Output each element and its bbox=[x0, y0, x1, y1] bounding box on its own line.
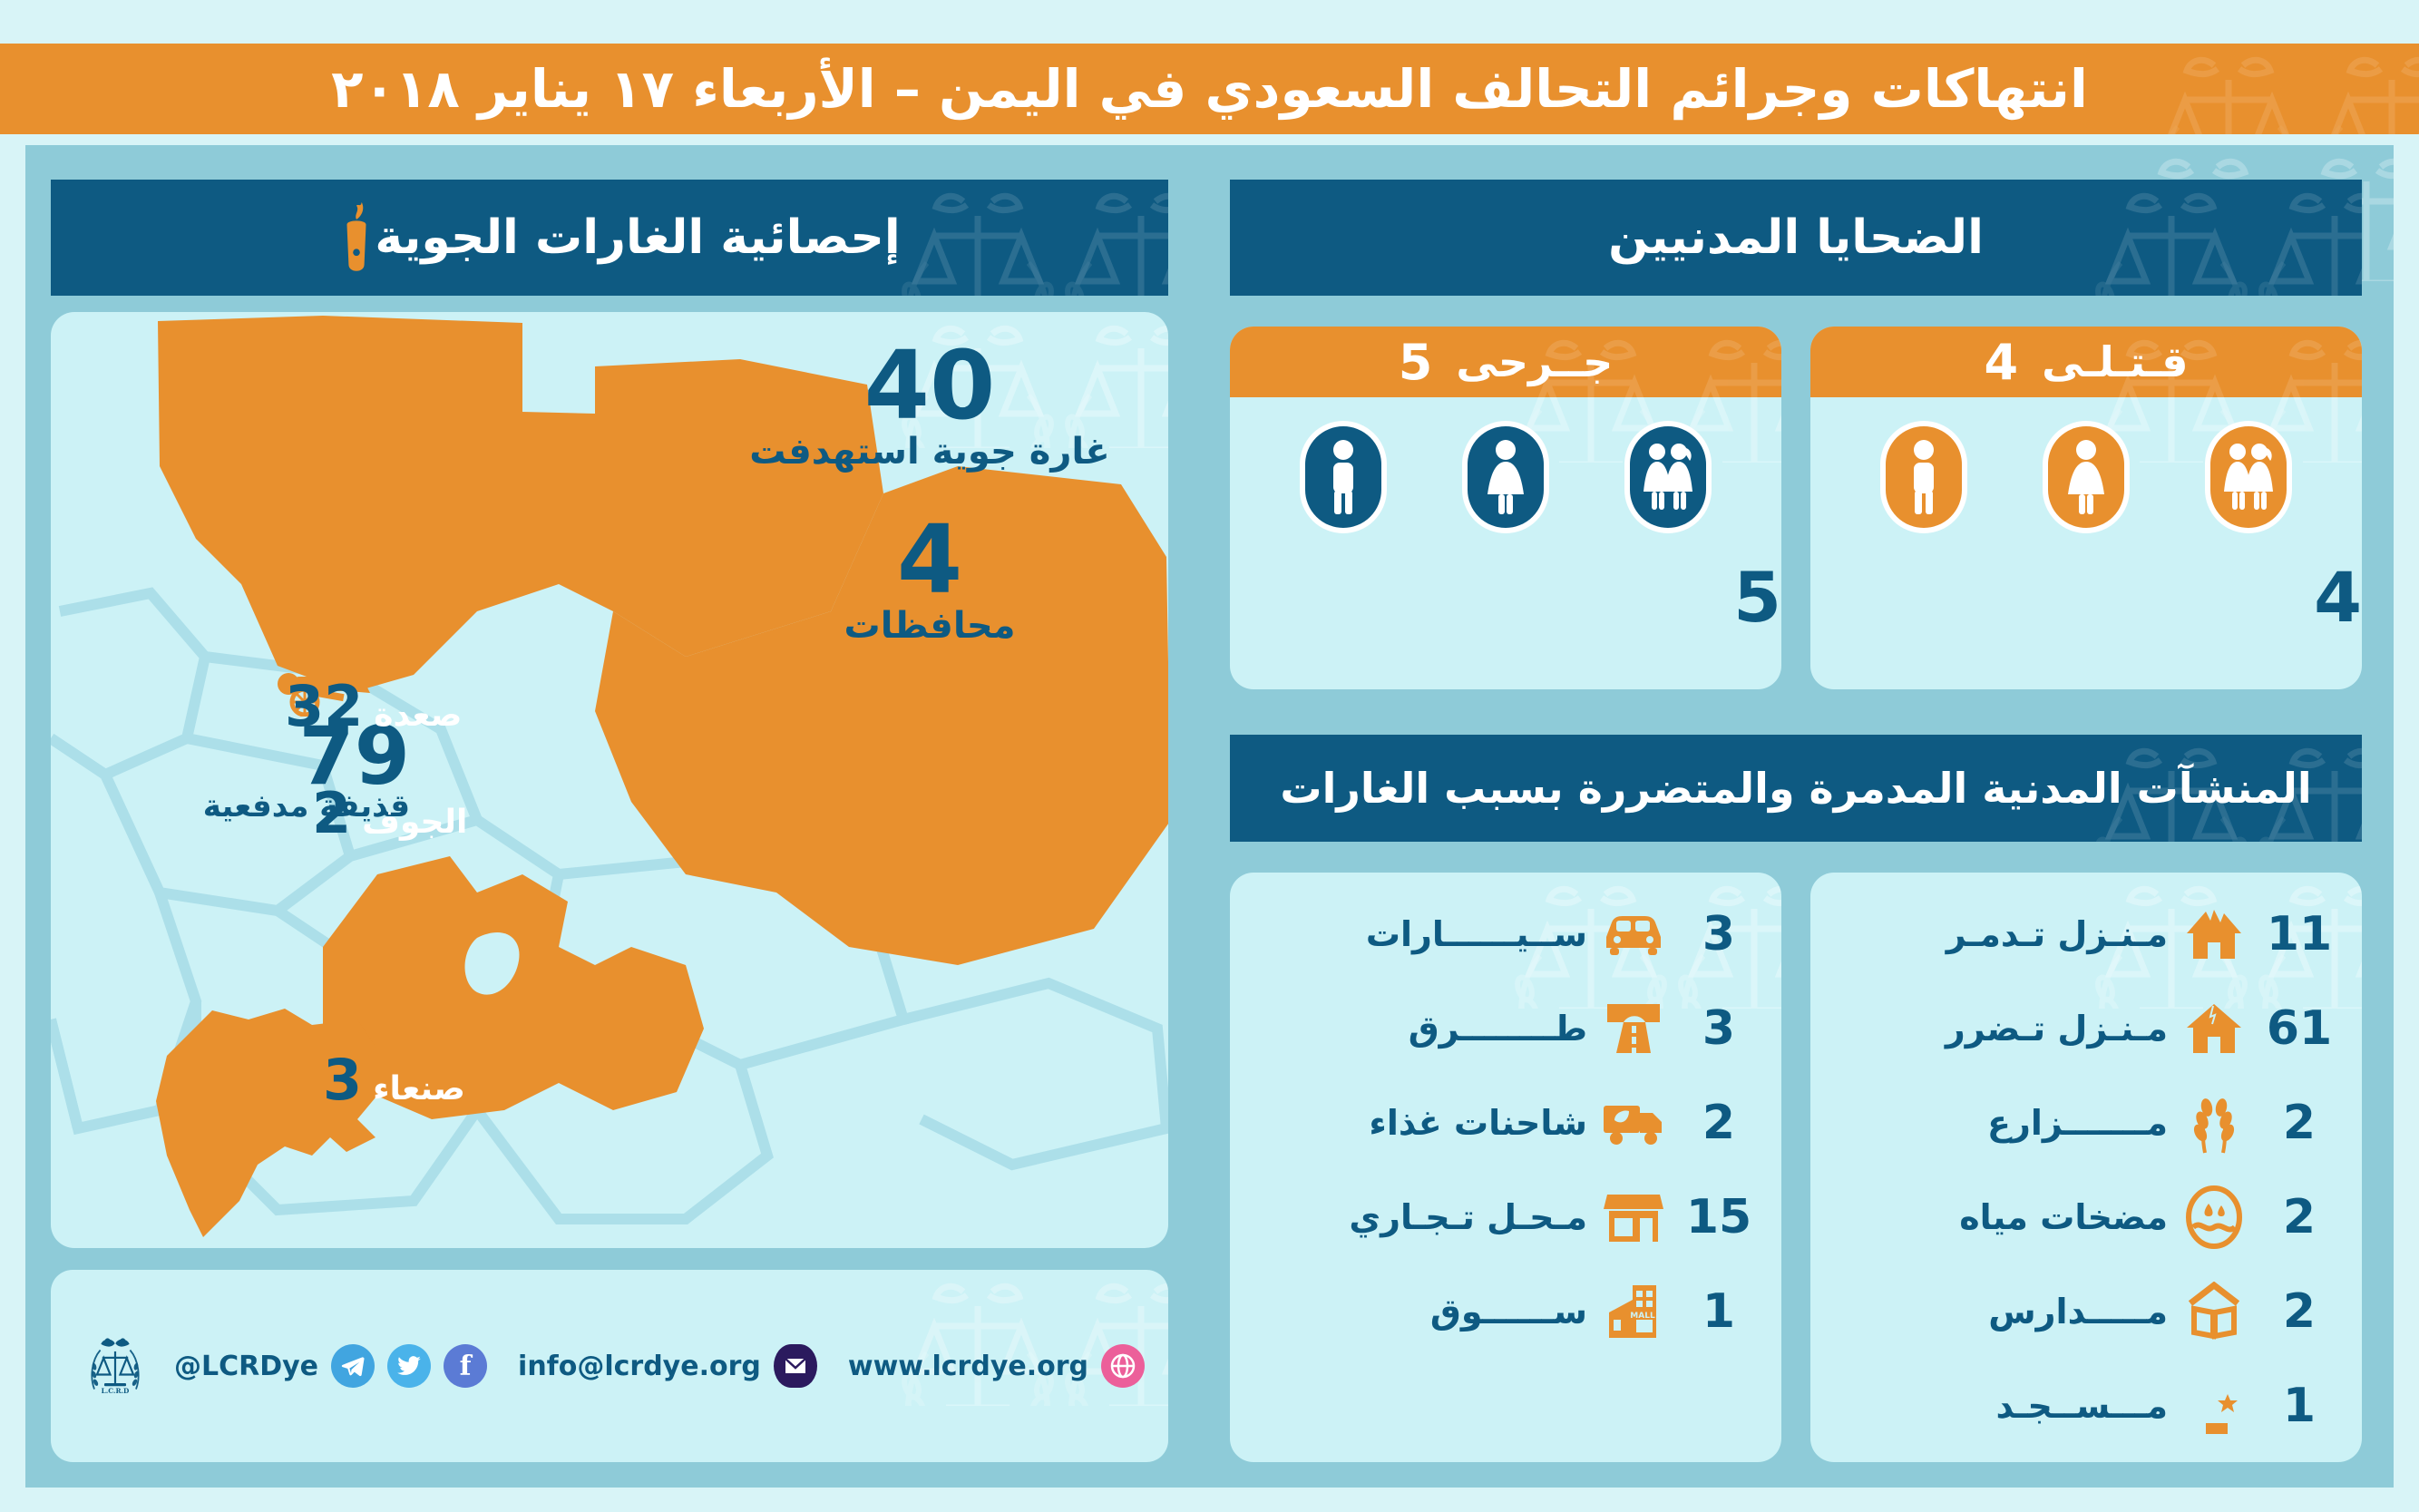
facility-label: ســيــــــارات bbox=[1253, 914, 1587, 954]
children-icon bbox=[1624, 421, 1712, 533]
victims-injured-card: جــرحى 5 bbox=[1230, 327, 1781, 689]
social-contact[interactable]: f @LCRDye bbox=[174, 1344, 487, 1388]
injured-band-label: جــرحى bbox=[1456, 337, 1613, 386]
lcrd-logo-text: L.C.R.D bbox=[102, 1387, 130, 1395]
facility-row: 2 مـــــــزارع bbox=[1834, 1076, 2338, 1170]
facilities-header-label: المنشآت المدنية المدمرة والمتضررة بسبب ا… bbox=[1280, 764, 2311, 813]
map-label-sanaa: صنعاء 3 bbox=[323, 1047, 465, 1113]
children-icon bbox=[2205, 421, 2292, 533]
facility-label: مـنـزل تـضرر bbox=[1834, 1009, 2168, 1049]
food-truck-icon bbox=[1600, 1089, 1667, 1156]
water-pump-icon bbox=[2180, 1184, 2248, 1251]
road-icon bbox=[1600, 995, 1667, 1062]
total-governorates-label: محافظات bbox=[735, 605, 1125, 647]
map-label-sanaa-name: صنعاء bbox=[373, 1070, 465, 1107]
watermark-pattern bbox=[2090, 180, 2362, 296]
killed-band-value: 4 bbox=[1985, 334, 2019, 391]
telegram-icon[interactable] bbox=[331, 1344, 375, 1388]
watermark-pattern bbox=[896, 180, 1168, 296]
email-text: info@lcrdye.org bbox=[518, 1351, 761, 1382]
map-label-sanaa-value: 3 bbox=[323, 1047, 362, 1113]
map-region-taiz-shape bbox=[103, 983, 466, 1248]
website-text: www.lcrdye.org bbox=[848, 1351, 1088, 1382]
facility-label: مـــســجـد bbox=[1834, 1386, 2168, 1426]
facility-label: مـنـزل تـدمـر bbox=[1834, 914, 2168, 954]
man-icon bbox=[1300, 421, 1387, 533]
total-governorates-stat: 4 محافظات bbox=[735, 515, 1125, 647]
injured-band: جــرحى 5 bbox=[1230, 327, 1781, 397]
map-label-saada-name: صعدة bbox=[374, 697, 462, 734]
globe-icon[interactable] bbox=[1101, 1344, 1145, 1388]
facility-value: 1 bbox=[1680, 1284, 1758, 1339]
facility-row: 61 مـنـزل تـضرر bbox=[1834, 981, 2338, 1076]
airraid-header-label: إحصائية الغارات الجوية bbox=[375, 210, 900, 265]
facebook-icon[interactable]: f bbox=[444, 1344, 487, 1388]
facility-value: 3 bbox=[1680, 907, 1758, 961]
facility-row: 2 مضخات مياه bbox=[1834, 1170, 2338, 1264]
facility-row: 2 شاحنات غذاء bbox=[1253, 1076, 1758, 1170]
website-contact[interactable]: www.lcrdye.org bbox=[848, 1344, 1145, 1388]
total-raids-value: 40 bbox=[735, 341, 1125, 431]
map-label-saada-value: 32 bbox=[285, 673, 363, 739]
facility-label: مـــــدارس bbox=[1834, 1292, 2168, 1332]
lcrd-logo: L.C.R.D bbox=[87, 1284, 143, 1448]
facility-value: 61 bbox=[2260, 1001, 2338, 1056]
wheat-farm-icon bbox=[2180, 1089, 2248, 1156]
man-icon bbox=[1880, 421, 1967, 533]
injured-total: 5 bbox=[1230, 533, 1781, 638]
destroyed-house-icon bbox=[2180, 901, 2248, 968]
map-label-saada: صعدة 32 bbox=[285, 673, 462, 739]
victims-killed-card: قـتـلـى 4 bbox=[1810, 327, 2362, 689]
torch-missile-icon bbox=[338, 199, 375, 277]
facility-label: طــــــــرق bbox=[1253, 1009, 1587, 1049]
killed-band-label: قـتـلـى bbox=[2042, 337, 2188, 386]
facility-row: 2 مـــــدارس bbox=[1834, 1264, 2338, 1359]
map-label-aljawf-name: الجوف bbox=[362, 804, 467, 841]
facility-value: 15 bbox=[1680, 1190, 1758, 1244]
facility-row: 3 ســيــــــارات bbox=[1253, 887, 1758, 981]
title-bar: انتهاكات وجرائم التحالف السعودي في اليمن… bbox=[0, 44, 2419, 134]
facility-label: ســــــوق bbox=[1253, 1292, 1587, 1332]
map-label-aljawf: الجوف 2 bbox=[312, 780, 467, 846]
facility-value: 2 bbox=[2260, 1284, 2338, 1339]
facility-row: 1 مـــســجـد bbox=[1834, 1359, 2338, 1453]
victims-header-label: الضحايا المدنيين bbox=[1608, 210, 1984, 265]
facility-row: 1 MALL ســــــوق bbox=[1253, 1264, 1758, 1359]
facility-value: 3 bbox=[1680, 1001, 1758, 1056]
total-raids-label: غارة جوية استهدفت bbox=[735, 431, 1125, 473]
woman-icon bbox=[2043, 421, 2130, 533]
facility-value: 2 bbox=[2260, 1190, 2338, 1244]
facility-value: 1 bbox=[2260, 1379, 2338, 1433]
woman-icon bbox=[1462, 421, 1549, 533]
map-label-aljawf-value: 2 bbox=[312, 780, 351, 846]
facilities-header: المنشآت المدنية المدمرة والمتضررة بسبب ا… bbox=[1230, 735, 2362, 842]
mail-icon[interactable] bbox=[774, 1344, 817, 1388]
injured-band-value: 5 bbox=[1399, 334, 1433, 391]
page-title: انتهاكات وجرائم التحالف السعودي في اليمن… bbox=[0, 44, 2419, 134]
facility-row: 11 مـنـزل تـدمـر bbox=[1834, 887, 2338, 981]
car-icon bbox=[1600, 901, 1667, 968]
victims-header: الضحايا المدنيين bbox=[1230, 180, 2362, 296]
facility-value: 2 bbox=[2260, 1096, 2338, 1150]
airraid-header: إحصائية الغارات الجوية bbox=[51, 180, 1168, 296]
damaged-house-icon bbox=[2180, 995, 2248, 1062]
facility-value: 2 bbox=[1680, 1096, 1758, 1150]
social-handle: @LCRDye bbox=[174, 1351, 318, 1382]
killed-icon-row bbox=[1810, 397, 2362, 533]
facility-label: مـحـل تـجـاري bbox=[1253, 1197, 1587, 1237]
shop-icon bbox=[1600, 1184, 1667, 1251]
facilities-right-card: 11 مـنـزل تـدمـر 61 bbox=[1810, 873, 2362, 1462]
svg-text:MALL: MALL bbox=[1630, 1312, 1655, 1321]
facilities-left-card: 3 ســيــــــارات 3 bbox=[1230, 873, 1781, 1462]
total-raids-stat: 40 غارة جوية استهدفت bbox=[735, 341, 1125, 473]
email-contact[interactable]: info@lcrdye.org bbox=[518, 1344, 817, 1388]
killed-total: 4 bbox=[1810, 533, 2362, 638]
facility-label: مـــــــزارع bbox=[1834, 1103, 2168, 1143]
mosque-icon bbox=[2180, 1372, 2248, 1439]
total-governorates-value: 4 bbox=[735, 515, 1125, 605]
infographic-page: انتهاكات وجرائم التحالف السعودي في اليمن… bbox=[0, 0, 2419, 1512]
facility-label: مضخات مياه bbox=[1834, 1197, 2168, 1237]
school-icon bbox=[2180, 1278, 2248, 1345]
injured-icon-row bbox=[1230, 397, 1781, 533]
facility-value: 11 bbox=[2260, 907, 2338, 961]
footer-card: L.C.R.D f @LCRDye bbox=[51, 1270, 1168, 1462]
facility-label: شاحنات غذاء bbox=[1253, 1103, 1587, 1143]
facility-row: 3 طــــــــرق bbox=[1253, 981, 1758, 1076]
mall-icon: MALL bbox=[1600, 1278, 1667, 1345]
killed-band: قـتـلـى 4 bbox=[1810, 327, 2362, 397]
twitter-icon[interactable] bbox=[387, 1344, 431, 1388]
facility-row: 15 مـحـل تـجـاري bbox=[1253, 1170, 1758, 1264]
